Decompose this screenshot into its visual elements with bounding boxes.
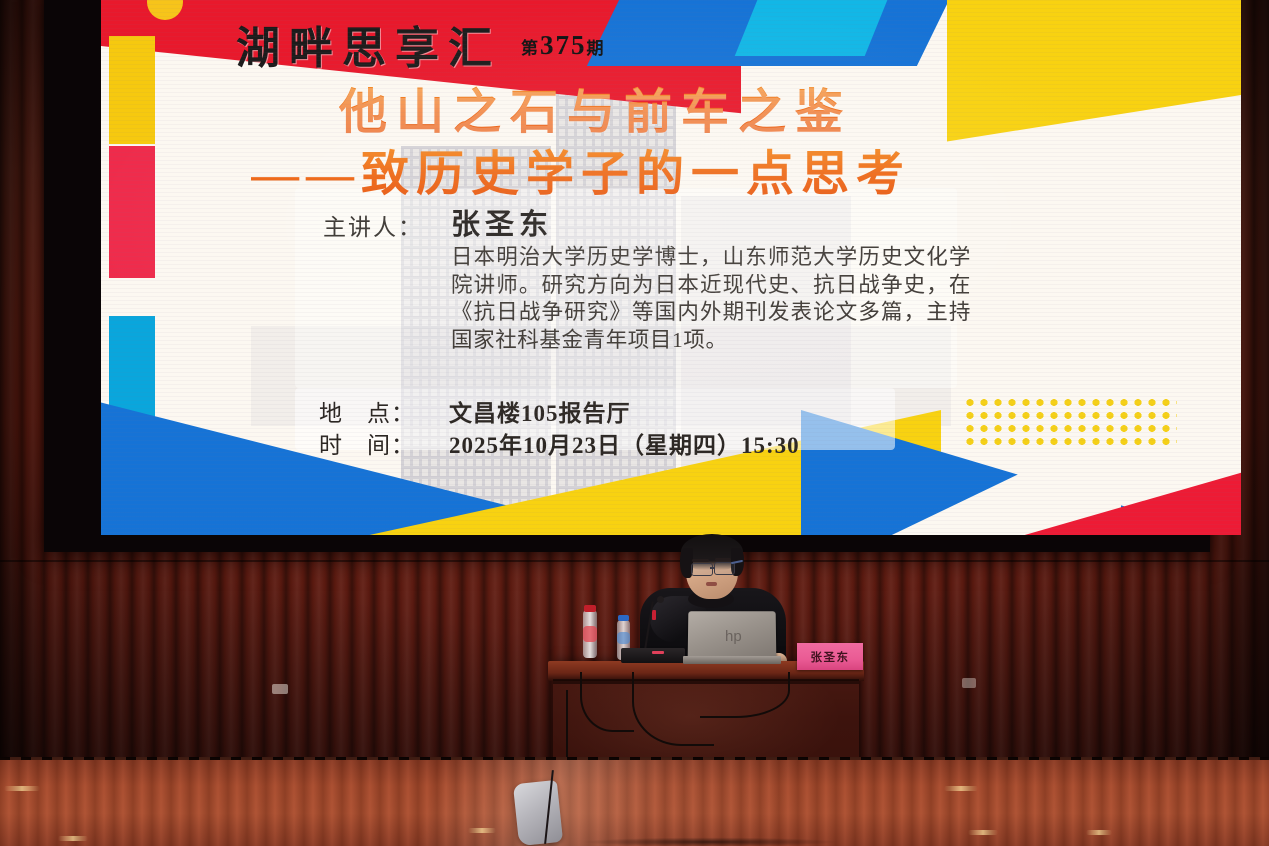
laptop-base [683,656,781,664]
nameplate: 张圣东 [797,643,863,670]
wall-shadow-left [0,0,50,760]
eyeglasses-bridge [710,567,715,569]
water-bottle-blue-label [617,632,630,644]
microphone-head-icon [657,596,664,603]
hp-logo-icon: hp [725,630,739,644]
floor-marker-4 [944,786,978,791]
console-led-indicator [652,651,664,654]
nameplate-text: 张圣东 [811,649,850,665]
water-bottle-red-cap-lid [584,605,596,612]
projection-screen: 湖畔思享汇 第375期 他山之石与前车之鉴 ——致历史学子的一点思考 主讲人： … [101,0,1241,535]
lapel-badge-icon [652,610,656,620]
floor-marker-1 [4,786,40,791]
lecture-hall-scene: 湖畔思享汇 第375期 他山之石与前车之鉴 ——致历史学子的一点思考 主讲人： … [0,0,1269,846]
water-bottle-blue-cap-lid [618,615,629,621]
projection-screen-frame: 湖畔思享汇 第375期 他山之石与前车之鉴 ——致历史学子的一点思考 主讲人： … [44,0,1210,552]
floor-marker-2 [58,836,88,841]
speaker-eyebrow-left [692,559,709,562]
floor-marker-6 [1086,830,1112,835]
speaker-mouth [706,582,717,586]
projector-glow [101,0,1241,535]
eyeglasses-lens-left [691,563,713,576]
wall-outlet-left [272,684,288,694]
floor-marker-5 [968,830,998,835]
floor-marker-3 [468,828,496,833]
wall-outlet-right [962,678,976,688]
podium-floor-shadow [540,836,880,846]
stage-floor-reflection [0,760,1269,846]
speaker-eyebrow-right [715,558,731,561]
water-bottle-red-label [583,626,597,642]
